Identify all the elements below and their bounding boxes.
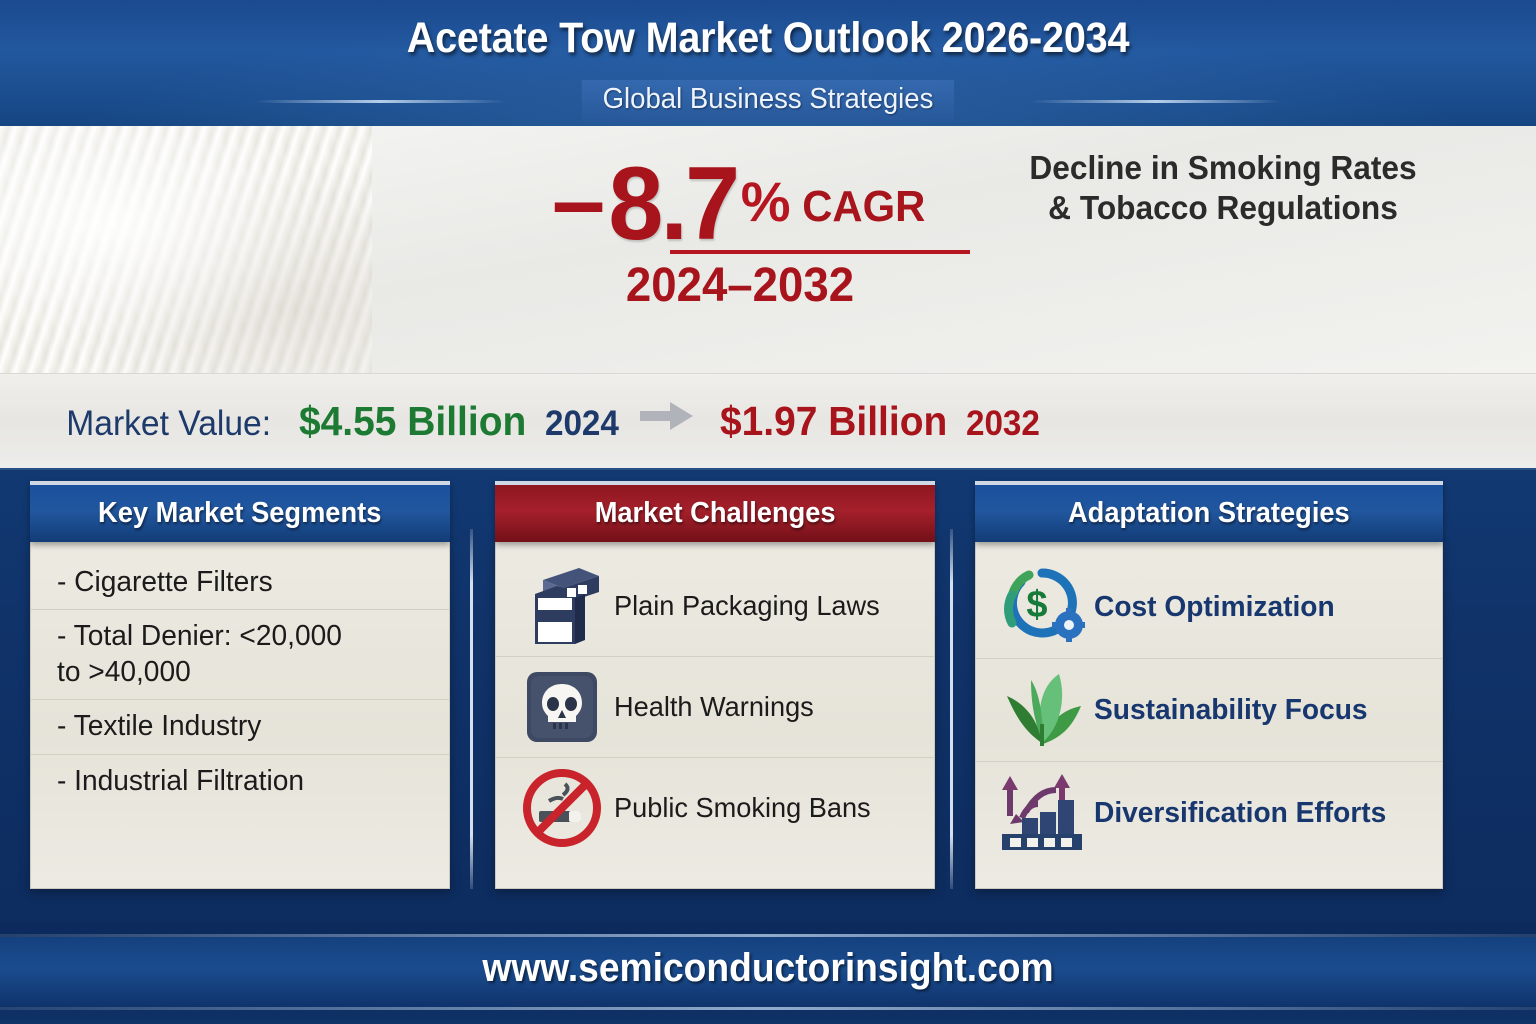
green-leaves-icon — [990, 666, 1094, 754]
panel-header-key-market-segments: Key Market Segments — [30, 481, 450, 542]
cigarette-pack-icon — [510, 562, 614, 650]
panel-header-adaptation-strategies: Adaptation Strategies — [975, 481, 1443, 542]
panels-section: Key Market Segments - Cigarette Filters … — [0, 467, 1536, 922]
list-item[interactable]: $ — [976, 556, 1442, 659]
svg-text:$: $ — [1026, 584, 1047, 626]
list-item-label: - Textile Industry — [57, 709, 420, 744]
list-item-label: Health Warnings — [614, 691, 814, 723]
list-item-label: Public Smoking Bans — [614, 792, 871, 824]
subtitle-rule-left — [255, 100, 505, 103]
panel-title: Adaptation Strategies — [1068, 497, 1350, 530]
hero-headline-line1: Decline in Smoking Rates — [1017, 148, 1430, 188]
list-item[interactable]: Diversification Efforts — [976, 762, 1442, 864]
cagr-minus-sign: – — [552, 153, 605, 249]
panel-title: Market Challenges — [595, 497, 836, 530]
list-item[interactable]: Health Warnings — [496, 657, 934, 758]
panel-key-market-segments: Key Market Segments - Cigarette Filters … — [30, 481, 450, 889]
market-value-start-year: 2024 — [545, 404, 619, 444]
list-item[interactable]: - Textile Industry — [31, 700, 449, 754]
skull-warning-icon — [510, 668, 614, 746]
cagr-label: CAGR — [802, 185, 925, 229]
market-value-end: $1.97 Billion — [720, 398, 947, 445]
list-item-label: Cost Optimization — [1094, 591, 1335, 624]
factory-growth-icon — [990, 770, 1094, 856]
panel-header-market-challenges: Market Challenges — [495, 481, 935, 542]
panel-market-challenges: Market Challenges — [495, 481, 935, 889]
list-item[interactable]: Public Smoking Bans — [496, 758, 934, 858]
cagr-percent-sign: % — [741, 174, 791, 230]
hero-headline-line2: & Tobacco Regulations — [1017, 188, 1430, 228]
hero-section: – 8.7 % CAGR 2024–2032 Decline in Smokin… — [0, 126, 1536, 373]
list-item[interactable]: - Cigarette Filters — [31, 556, 449, 610]
subtitle-rule-right — [1031, 100, 1281, 103]
no-smoking-icon — [510, 765, 614, 851]
arrow-right-icon — [640, 401, 694, 436]
cagr-value: 8.7 — [609, 152, 738, 256]
list-item-label: Sustainability Focus — [1094, 694, 1368, 727]
acetate-tow-fiber-image — [0, 126, 372, 373]
list-item[interactable]: Sustainability Focus — [976, 659, 1442, 762]
market-value-bar: Market Value: $4.55 Billion 2024 $1.97 B… — [0, 373, 1536, 470]
page-subtitle: Global Business Strategies — [582, 80, 955, 122]
panel-title: Key Market Segments — [98, 497, 381, 530]
panel-body-market-challenges: Plain Packaging Laws — [495, 542, 935, 889]
cagr-value-row: – 8.7 % CAGR — [490, 152, 990, 256]
list-item-label: Diversification Efforts — [1094, 797, 1386, 830]
cagr-period: 2024–2032 — [503, 258, 978, 313]
market-value-end-year: 2032 — [966, 404, 1040, 444]
panel-divider-right — [950, 529, 953, 889]
list-item-label: Plain Packaging Laws — [614, 590, 880, 622]
subtitle-row: Global Business Strategies — [0, 80, 1536, 122]
market-value-label: Market Value: — [66, 404, 271, 444]
hero-headline: Decline in Smoking Rates & Tobacco Regul… — [1017, 148, 1430, 229]
list-item-label: - Total Denier: <20,000 to >40,000 — [57, 619, 420, 690]
panel-adaptation-strategies: Adaptation Strategies $ — [975, 481, 1443, 889]
list-item[interactable]: - Industrial Filtration — [31, 755, 449, 808]
list-item-label: - Cigarette Filters — [57, 565, 420, 600]
footer-rule-top — [0, 934, 1536, 937]
footer-rule-bottom — [0, 1007, 1536, 1010]
dollar-gear-icon: $ — [990, 565, 1094, 649]
header-banner: Acetate Tow Market Outlook 2026-2034 Glo… — [0, 0, 1536, 126]
infographic-page: Acetate Tow Market Outlook 2026-2034 Glo… — [0, 0, 1536, 1024]
cagr-block: – 8.7 % CAGR 2024–2032 — [490, 152, 990, 313]
panel-divider-left — [470, 529, 473, 889]
page-title: Acetate Tow Market Outlook 2026-2034 — [61, 14, 1474, 63]
market-value-start: $4.55 Billion — [299, 398, 526, 445]
footer-website[interactable]: www.semiconductorinsight.com — [54, 946, 1482, 991]
list-item[interactable]: Plain Packaging Laws — [496, 556, 934, 657]
list-item-label: - Industrial Filtration — [57, 764, 420, 799]
panel-body-adaptation-strategies: $ — [975, 542, 1443, 889]
panel-body-key-market-segments: - Cigarette Filters - Total Denier: <20,… — [30, 542, 450, 889]
list-item[interactable]: - Total Denier: <20,000 to >40,000 — [31, 610, 449, 700]
footer-bar: www.semiconductorinsight.com — [0, 922, 1536, 1024]
